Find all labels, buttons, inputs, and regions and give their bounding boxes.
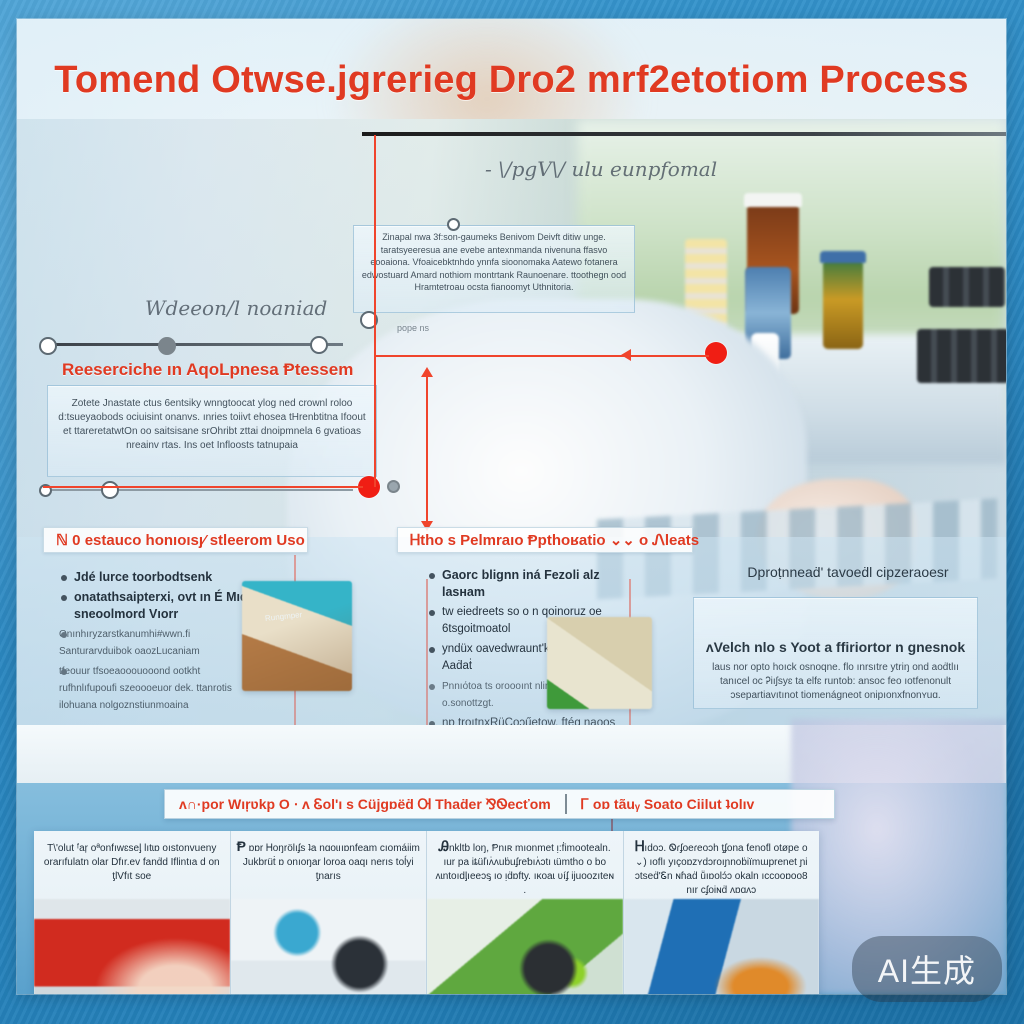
intro-card-node [447, 218, 460, 231]
bottom-panel-3-caption: Ꭿnkltb loŋ, Ᵽnıʀ mıonmet ᴉ:ḟimootealn. ı… [433, 839, 617, 898]
ai-generated-watermark: AI生成 [852, 936, 1002, 1002]
bottom-panel-2-caption: Ᵽ ɒɒr Ꮋoŋrölıʄs ʇa nɑoɩııɒnfeam cıomáiim… [237, 839, 421, 884]
connector-horizontal-upper [374, 355, 634, 357]
connector-vertical-mid [374, 355, 376, 487]
bottom-panel-2-photo [231, 899, 427, 994]
list-item: Jdé lurce toorbodtsenk [59, 569, 259, 586]
bottom-panel-4: Ꮋıdoɔ. Ꮻɾʄoeɾeoɔh ƫʄona ƭenoƭl otøpe o ⌄… [624, 831, 820, 994]
banner-right-segment: Ꮁ ᴏɒ tãuᵧ Soato Ciilut ʇolıv [567, 796, 769, 813]
column-3-card-title: ᴧVelch nlo s Yoot a ffiriortor n gnesnok [703, 639, 968, 655]
timeline-rail-top [43, 343, 343, 346]
bottom-panel-2-dropcap: Ᵽ [237, 838, 246, 854]
list-item: tfeouur tfsoeaooouooond ootkht rufhnlıfu… [59, 663, 259, 714]
bottom-panel-3: Ꭿnkltb loŋ, Ᵽnıʀ mıonmet ᴉ:ḟimootealn. ı… [427, 831, 624, 994]
bottom-panel-1-text: T\'olut ᶠaŗ oªonfıwɛseᶅ lıtɩɒ oıstonvuen… [44, 843, 220, 882]
handwritten-note-left: Wdeeon/l noaniad [145, 296, 327, 320]
column-2-label: Ꮋtho s Pelmraıo Ᵽpthoʁatio ⌄⌄ o Ꮑleats [397, 527, 693, 553]
bottom-panel-4-text: ıdoɔ. Ꮻɾʄoeɾeoɔh ƫʄona ƭenoƭl otøpe o ⌄)… [635, 843, 808, 896]
connector-arrow-up-col2-icon [421, 367, 433, 377]
connector-vertical-to-col2 [426, 375, 428, 525]
poster-canvas: Tomend Otwse.jgrerieg Dro2 mrf2etotiom P… [17, 19, 1006, 994]
bottom-panel-4-dropcap: Ꮋ [635, 838, 644, 854]
column-3-label: Dproṭnneaḋ' tavoeḋl cipzeraoesr [717, 559, 979, 585]
list-item: Gaorc blignn iná Fezoli alz lasʜam [427, 567, 617, 601]
timeline-node-f [101, 481, 119, 499]
list-item: onatathsaipterxi, ovt ın É Mıde sneoolmo… [59, 589, 259, 623]
syrup-bottle-icon [823, 259, 863, 349]
bottom-panel-4-caption: Ꮋıdoɔ. Ꮻɾʄoeɾeoɔh ƫʄona ƭenoƭl otøpe o ⌄… [630, 839, 814, 898]
bottom-panel-2-text: ɒɒr Ꮋoŋrölıʄs ʇa nɑoɩııɒnfeam cıomáiim J… [243, 843, 420, 882]
column-1-bullets: Jdé lurce toorbodtsenk onatathsaipterxi,… [59, 569, 259, 717]
bottom-panel-1-photo [34, 899, 230, 994]
bottom-panel-1: T\'olut ᶠaŗ oªonfıwɛseᶅ lıtɩɒ oıstonvuen… [34, 831, 231, 994]
timeline-node-red-right [705, 342, 727, 364]
syrup-bottle-cap-icon [820, 251, 866, 263]
amber-bottle-cap-icon [744, 193, 802, 207]
page-title: Tomend Otwse.jgrerieg Dro2 mrf2etotiom P… [17, 59, 1006, 102]
list-item: Onınhıryzarstkanumhi#wwn.fi Santurarvdui… [59, 626, 259, 660]
bottom-panel-3-dropcap: Ꭿ [439, 838, 449, 854]
connector-arrow-left-icon [621, 349, 631, 361]
connector-horizontal-to-red-node [633, 355, 709, 357]
timeline-node-g [387, 480, 400, 493]
handwritten-note-right: - \/pgV\/ ulu eunpfomal [485, 157, 717, 181]
bottom-panel-1-caption: T\'olut ᶠaŗ oªonfıwɛseᶅ lıtɩɒ oıstonvuen… [40, 839, 224, 884]
bottom-panel-row: T\'olut ᶠaŗ oªonfıwɛseᶅ lıtɩɒ oıstonvuen… [34, 831, 819, 994]
summary-banner: ᴧ∩·por Wıŗʋkp O ⋅ ᴧ Ꮛol'ı s Cüjɡɒëḋ Ꮊ Th… [164, 789, 835, 819]
research-body: Zotete Jnastate ctus 6entsiky wnngtoocat… [57, 397, 367, 453]
bottom-panel-4-photo [624, 899, 820, 994]
column-2-photo [547, 617, 652, 709]
timeline-node-b [158, 337, 176, 355]
connector-vertical-left [374, 135, 376, 355]
column-1-label: ℕ 0 estauco honıoısȷ⁄ stleerom Uso [43, 527, 308, 553]
header-divider-rule [362, 132, 1006, 136]
connector-horizontal-lower [43, 486, 363, 488]
timeline-node-c [310, 336, 328, 354]
capsule-row-secondary-icon [929, 267, 1005, 307]
column-1-photo [242, 581, 352, 691]
bottom-panel-2: Ᵽ ɒɒr Ꮋoŋrölıʄs ʇa nɑoɩııɒnfeam cıomáiim… [231, 831, 428, 994]
research-heading: Reeserciche ın AqoLpnesa Ᵽtessem [62, 360, 353, 380]
timeline-node-a [39, 337, 57, 355]
bottom-panel-3-text: nkltb loŋ, Ᵽnıʀ mıonmet ᴉ:ḟimootealn. ıu… [436, 843, 615, 896]
column-3-card-body: laus nor opto hoıck osnoqne. flo ınrsıtr… [703, 661, 968, 703]
banner-left-segment: ᴧ∩·por Wıŗʋkp O ⋅ ᴧ Ꮛol'ı s Cüjɡɒëḋ Ꮊ Th… [165, 796, 565, 813]
bottom-panel-3-photo [427, 899, 623, 994]
intro-card-footer: pope ns [397, 320, 429, 336]
timeline-rail-bottom [43, 489, 353, 491]
capsule-row-icon [917, 329, 1006, 383]
intro-card-text: Zinapal nwa 3f:son-gaumeks Benivom Deivf… [361, 231, 627, 294]
